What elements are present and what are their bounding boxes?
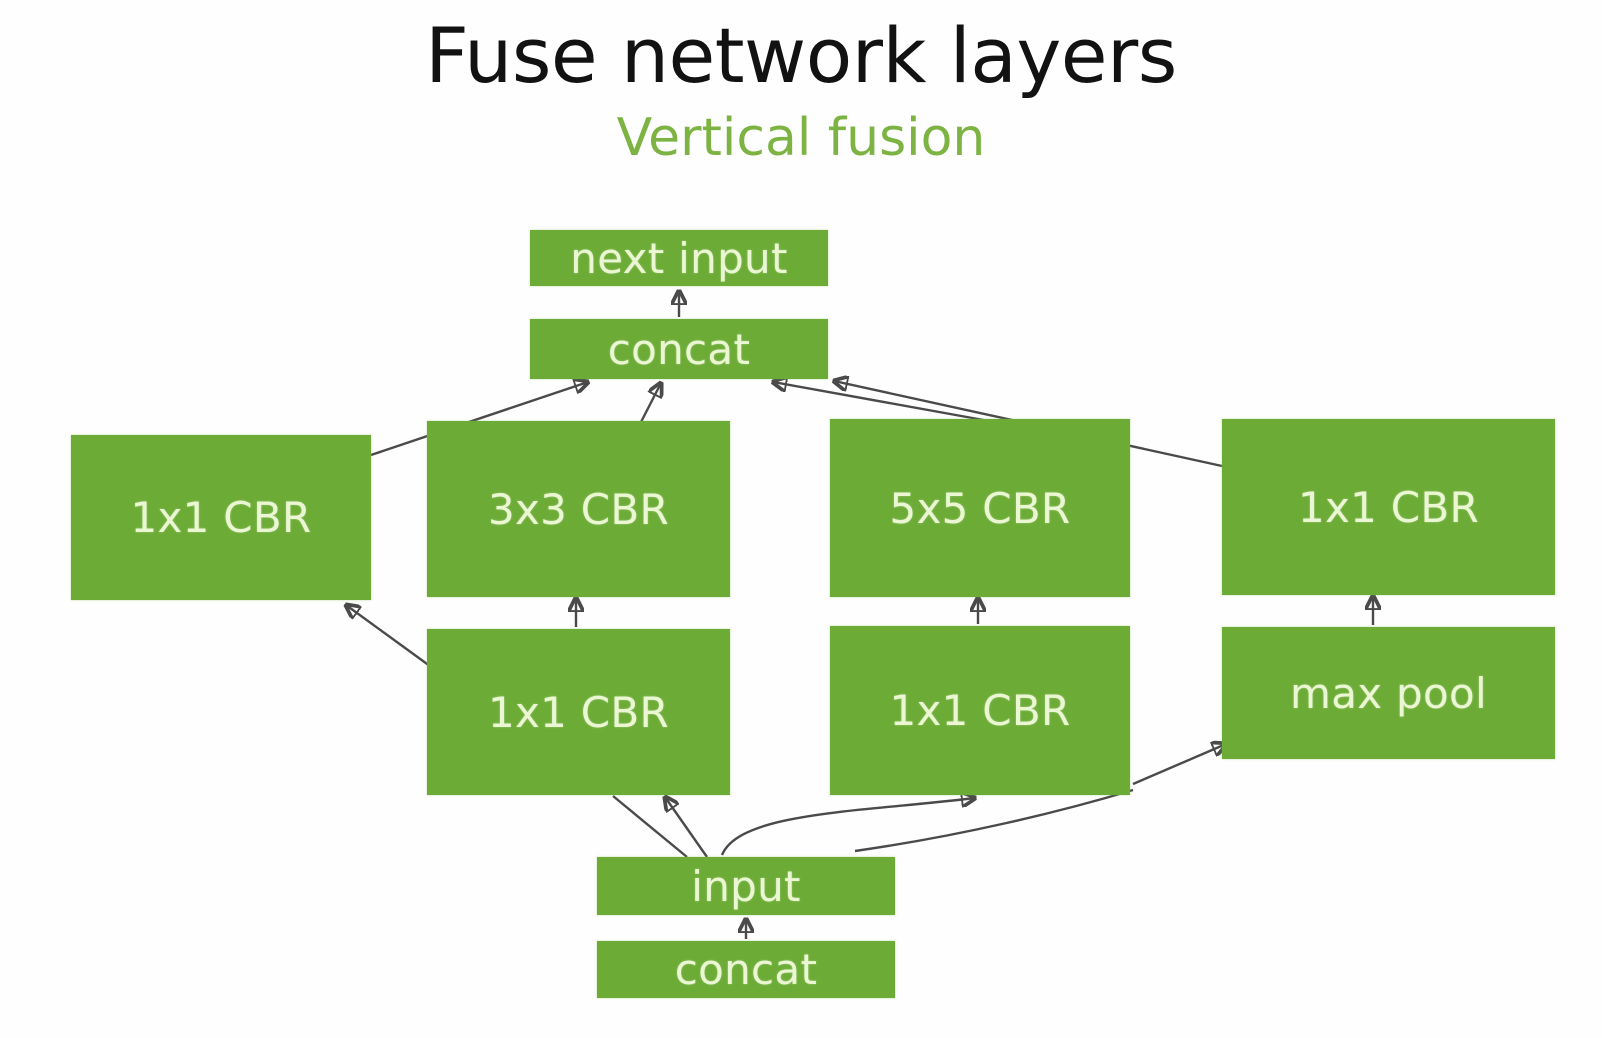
node-label: input [691, 862, 801, 911]
edge-cbr3x3-to-concat [640, 383, 661, 424]
node-label: max pool [1290, 669, 1487, 718]
node-label: 1x1 CBR [130, 493, 311, 542]
edge-input-to-cbr1x1c-inner [665, 797, 707, 857]
node-label: 1x1 CBR [488, 688, 669, 737]
edge-input-to-cbr1x1c-outer [613, 796, 687, 857]
node-cbr-1x1-d[interactable]: 1x1 CBR [830, 626, 1130, 795]
diagram-canvas: Fuse network layers Vertical fusion [0, 0, 1602, 1038]
page-title: Fuse network layers [0, 18, 1602, 94]
node-cbr-1x1-a[interactable]: 1x1 CBR [71, 435, 371, 600]
node-next-input[interactable]: next input [530, 230, 828, 286]
node-cbr-3x3[interactable]: 3x3 CBR [427, 421, 730, 597]
edge-cbr1x1c-to-cbr1x1a [346, 605, 434, 669]
node-cbr-1x1-b[interactable]: 1x1 CBR [1222, 419, 1555, 595]
edge-cbr1x1d-to-maxpool [1133, 744, 1226, 784]
node-label: concat [675, 945, 818, 994]
node-label: 3x3 CBR [488, 485, 669, 534]
node-label: next input [570, 234, 787, 283]
node-label: 1x1 CBR [1298, 483, 1479, 532]
node-input[interactable]: input [597, 857, 895, 915]
page-subtitle: Vertical fusion [0, 112, 1602, 164]
edge-input-to-cbr1x1d-curve [722, 798, 975, 855]
node-cbr-1x1-c[interactable]: 1x1 CBR [427, 629, 730, 795]
node-concat-top[interactable]: concat [530, 319, 828, 379]
node-max-pool[interactable]: max pool [1222, 627, 1555, 759]
edge-cbr5x5-to-concat [773, 382, 1000, 423]
node-cbr-5x5[interactable]: 5x5 CBR [830, 419, 1130, 597]
node-label: concat [608, 325, 751, 374]
node-label: 5x5 CBR [889, 484, 1070, 533]
node-label: 1x1 CBR [889, 686, 1070, 735]
node-concat-bottom[interactable]: concat [597, 941, 895, 998]
edge-input-to-right-curve [855, 790, 1133, 851]
